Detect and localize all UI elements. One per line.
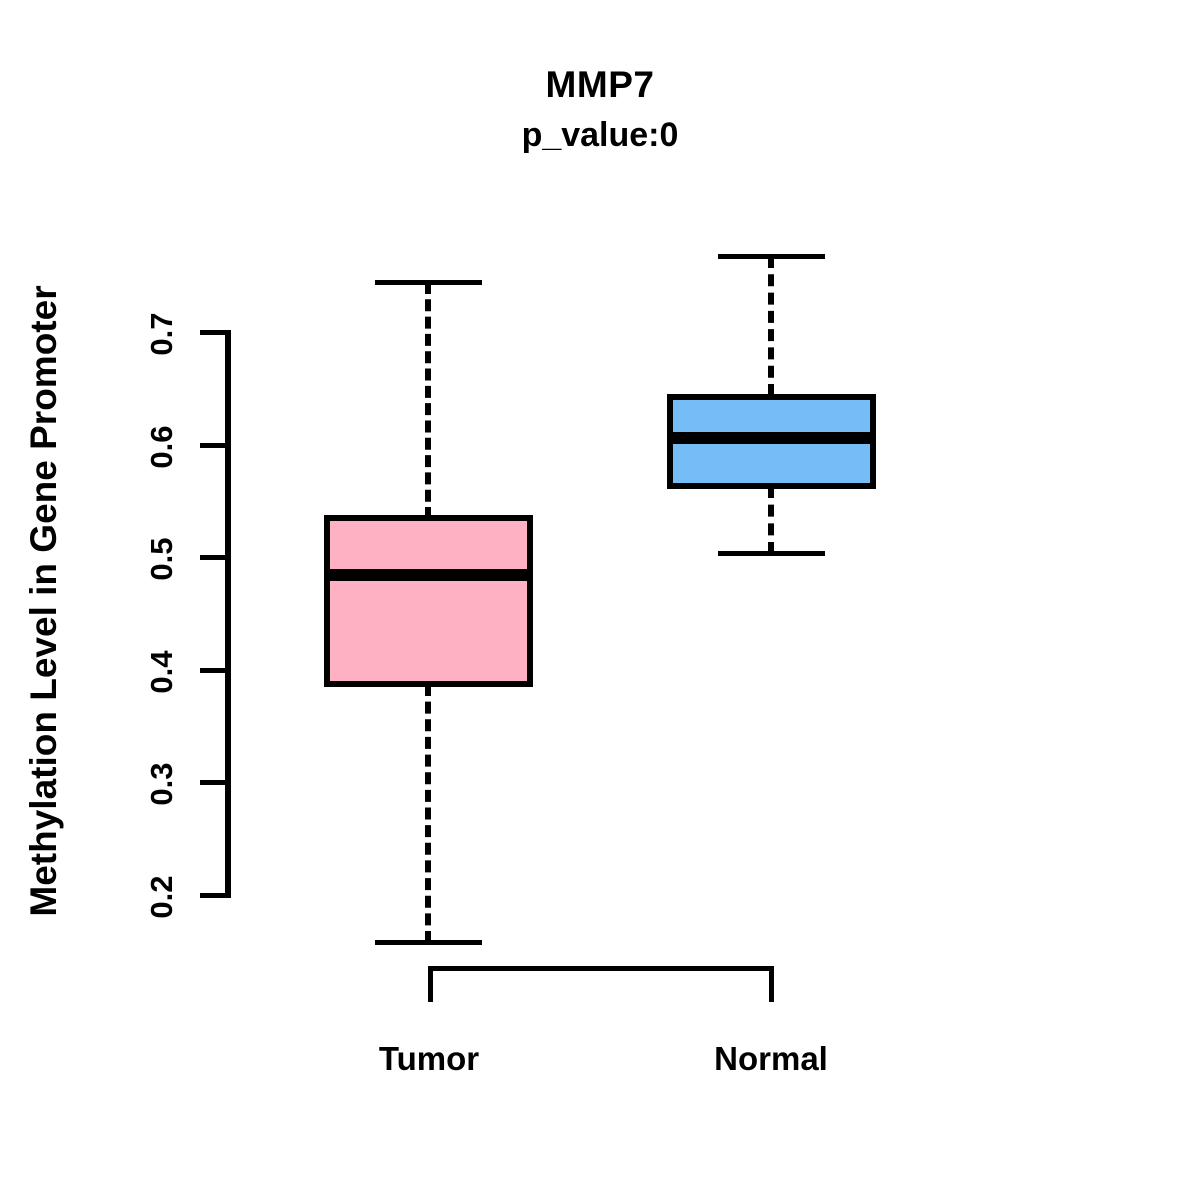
tumor-lower-whisker	[425, 684, 431, 943]
normal-upper-whisker-cap	[718, 254, 825, 259]
y-axis-tick-label: 0.7	[144, 274, 180, 394]
tumor-lower-whisker-cap	[375, 940, 482, 945]
y-axis-tick-mark	[200, 443, 231, 448]
x-axis-label-normal: Normal	[621, 1040, 921, 1078]
boxplot-figure: MMP7 p_value:0 Methylation Level in Gene…	[0, 0, 1200, 1200]
y-axis-tick-label: 0.6	[144, 387, 180, 507]
y-axis-tick-mark	[200, 555, 231, 560]
y-axis-tick-mark	[200, 668, 231, 673]
chart-subtitle-pvalue: p_value:0	[0, 118, 1200, 153]
y-axis-tick-mark	[200, 780, 231, 785]
y-axis-line	[225, 330, 231, 898]
normal-lower-whisker-cap	[718, 551, 825, 556]
y-axis-tick-label: 0.3	[144, 724, 180, 844]
y-axis-tick-mark	[200, 893, 231, 898]
tumor-box	[324, 515, 533, 687]
y-axis-tick-mark	[200, 330, 231, 335]
normal-upper-whisker	[768, 256, 774, 396]
x-axis-line	[428, 966, 774, 971]
normal-lower-whisker	[768, 486, 774, 554]
x-axis-tick-mark-tumor	[428, 966, 433, 1002]
y-axis-tick-label: 0.5	[144, 499, 180, 619]
y-axis-tick-label: 0.2	[144, 837, 180, 957]
x-axis-tick-mark-normal	[769, 966, 774, 1002]
chart-title: MMP7	[0, 66, 1200, 104]
tumor-upper-whisker-cap	[375, 280, 482, 285]
y-axis-tick-label: 0.4	[144, 612, 180, 732]
x-axis-label-tumor: Tumor	[279, 1040, 579, 1078]
tumor-median-line	[324, 569, 533, 581]
tumor-upper-whisker	[425, 282, 431, 519]
normal-median-line	[667, 432, 876, 444]
y-axis-title: Methylation Level in Gene Promoter	[23, 191, 65, 1011]
